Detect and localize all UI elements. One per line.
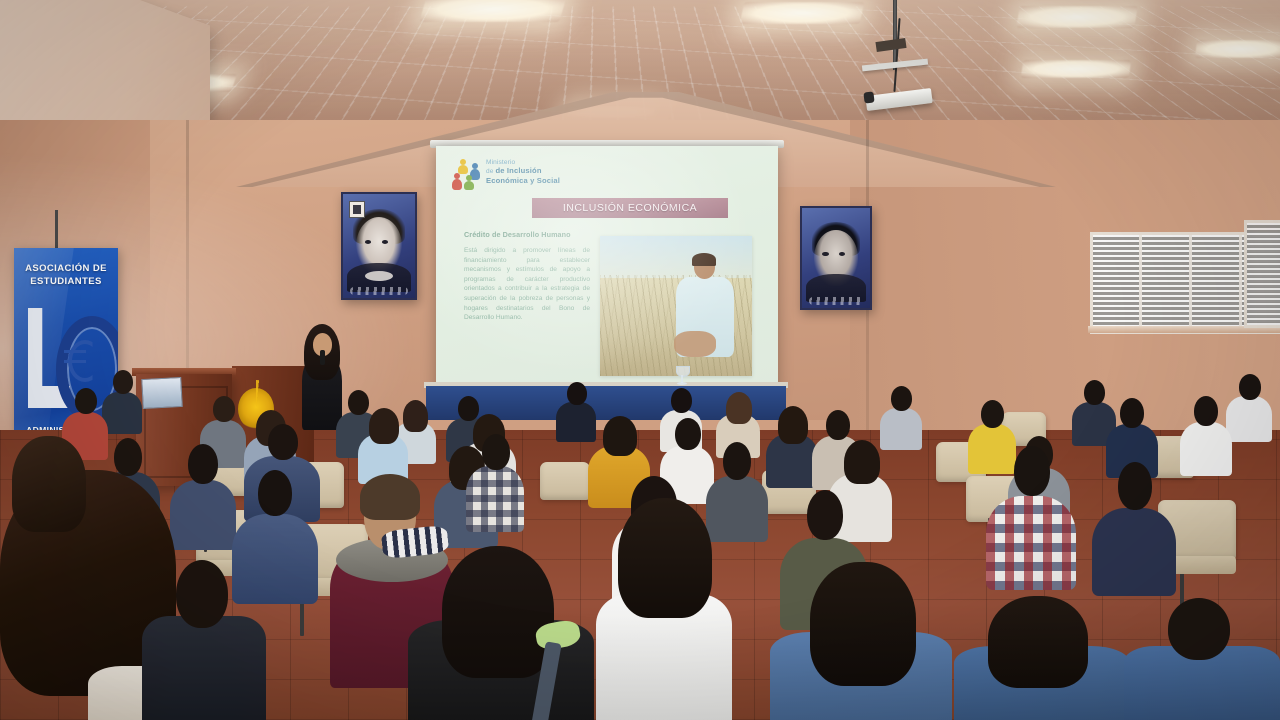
- portrait-eye: [822, 252, 828, 256]
- person-torso: [1226, 396, 1272, 442]
- ceiling-light-panel: [740, 2, 865, 24]
- audience-member: [358, 408, 408, 482]
- water-glass: [676, 366, 688, 386]
- person-head: [268, 424, 298, 460]
- person-head: [891, 386, 912, 411]
- person-hair: [988, 596, 1088, 688]
- person-head: [675, 418, 701, 450]
- presentation-slide: Ministerio de de Inclusión Económica y S…: [436, 146, 778, 394]
- person-head: [1120, 398, 1144, 428]
- person-torso: [1180, 422, 1232, 476]
- monogram-bar-top: [64, 350, 86, 353]
- portrait-signature: [809, 297, 863, 305]
- ceiling-light-panel: [419, 0, 566, 22]
- person-hair: [369, 408, 399, 444]
- audience-member: [1092, 462, 1176, 592]
- person-head: [826, 410, 850, 440]
- person-head: [807, 490, 843, 540]
- audience-member: [766, 406, 818, 486]
- audience-member: [1226, 374, 1272, 440]
- person-torso: [102, 392, 142, 434]
- person-hair: [618, 498, 712, 618]
- portrait-signature: [350, 287, 408, 295]
- window-far-right: [1244, 220, 1280, 328]
- person-head: [482, 434, 510, 470]
- audience-member-far-left: [0, 436, 90, 546]
- person-head: [671, 388, 692, 413]
- glass-bowl: [676, 366, 690, 377]
- slide-projection-glare: [436, 146, 778, 394]
- banner-line-1: ASOCIACIÓN DE: [14, 262, 118, 275]
- venetian-blinds: [1247, 223, 1280, 325]
- retrato-historico-izquierda: [341, 192, 417, 300]
- person-hair: [778, 406, 808, 444]
- projection-screen: Ministerio de de Inclusión Económica y S…: [436, 146, 778, 394]
- conference-room-photo: Ministerio de de Inclusión Económica y S…: [0, 0, 1280, 720]
- ceiling-light-panel: [1021, 60, 1132, 78]
- banner-pole: [55, 210, 58, 250]
- audience-member: [142, 560, 266, 720]
- person-hair: [442, 546, 554, 678]
- ceiling-light-panel: [1195, 40, 1280, 58]
- person-head: [567, 382, 587, 405]
- monogram-bar-bottom: [64, 360, 86, 363]
- person-hair: [12, 436, 86, 532]
- person-head: [1194, 396, 1218, 426]
- person-head: [176, 560, 228, 628]
- retrato-historico-derecha: [800, 206, 872, 310]
- person-hair: [360, 474, 420, 520]
- presenter-laptop[interactable]: [141, 377, 183, 409]
- portrait-eye: [839, 252, 845, 256]
- audience-member: [880, 386, 922, 448]
- audience-member-right-near: [954, 596, 1130, 720]
- audience-member-black-jacket: [408, 546, 594, 720]
- person-head: [1118, 462, 1152, 510]
- audience-member: [1180, 396, 1232, 474]
- audience-member: [102, 370, 142, 432]
- glass-foot: [677, 382, 687, 385]
- banner-line-2: ESTUDIANTES: [14, 275, 118, 288]
- person-torso: [466, 466, 524, 532]
- person-head: [723, 442, 751, 480]
- person-head: [981, 400, 1004, 428]
- blind-divider: [1189, 235, 1192, 331]
- person-torso: [986, 496, 1076, 590]
- projector-lens: [863, 91, 874, 103]
- person-torso: [1092, 508, 1176, 596]
- ceiling-light-panel: [1016, 6, 1137, 28]
- auditorium-chair[interactable]: [540, 462, 590, 500]
- audience-member: [986, 446, 1076, 586]
- audience-member-white-shirt: [596, 498, 732, 720]
- audience-member-blue-shirt: [770, 562, 952, 720]
- banner-top-text: ASOCIACIÓN DE ESTUDIANTES: [14, 262, 118, 288]
- person-head: [258, 470, 292, 516]
- person-hair: [810, 562, 916, 686]
- portrait-eye: [365, 240, 371, 244]
- person-head: [1168, 598, 1230, 660]
- blind-divider: [1239, 235, 1242, 331]
- person-head: [1239, 374, 1261, 400]
- handheld-microphone[interactable]: [320, 350, 325, 365]
- blind-divider: [1139, 235, 1142, 331]
- person-head: [113, 370, 133, 394]
- portrait-plaque: [349, 201, 365, 218]
- person-head: [75, 388, 97, 414]
- audience-member-plaid: [466, 434, 524, 530]
- person-torso: [142, 616, 266, 720]
- audience-member-right-edge: [1124, 598, 1280, 720]
- person-head: [1084, 380, 1105, 405]
- person-hair: [844, 440, 880, 484]
- person-head: [213, 396, 235, 422]
- person-hair: [726, 392, 752, 424]
- person-hair: [603, 416, 637, 456]
- person-head: [1014, 446, 1050, 496]
